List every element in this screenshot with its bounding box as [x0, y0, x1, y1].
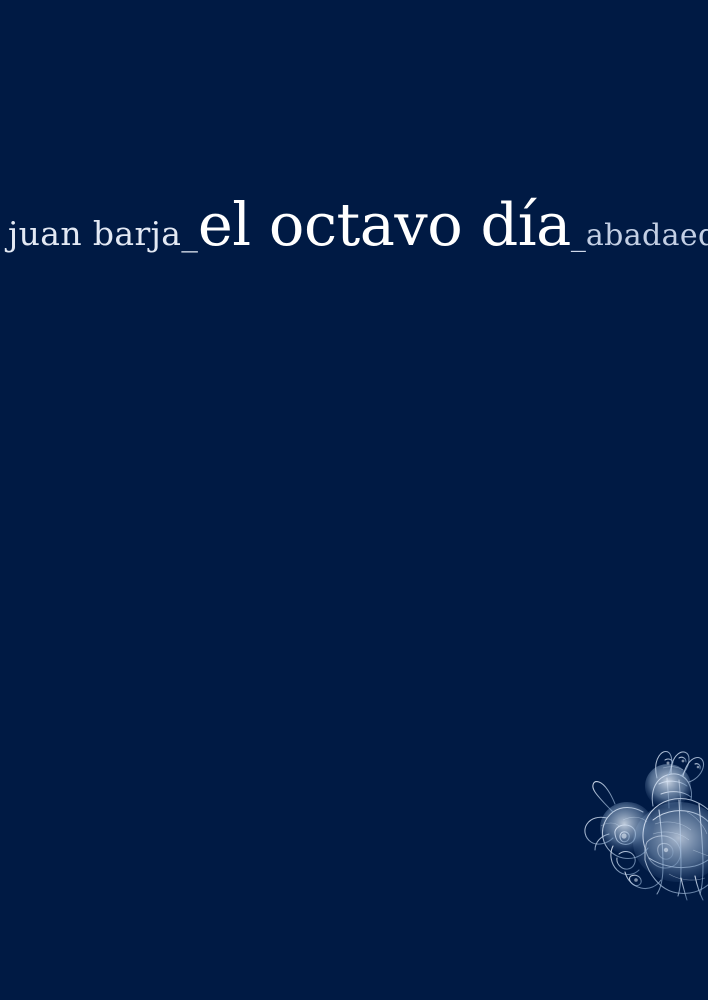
publisher-name: abadaedit: [586, 218, 708, 253]
creature-figure-illustration: [583, 750, 708, 902]
creature-soft-glow: [600, 764, 708, 882]
title-separator-1: _: [181, 214, 198, 253]
cover-title-line: juan barja_el octavo día_abadaedit: [8, 190, 708, 260]
author-name: juan barja: [8, 214, 181, 253]
book-cover: juan barja_el octavo día_abadaedit: [0, 0, 708, 1000]
title-separator-2: _: [571, 218, 586, 253]
book-title: el octavo día: [198, 190, 571, 259]
